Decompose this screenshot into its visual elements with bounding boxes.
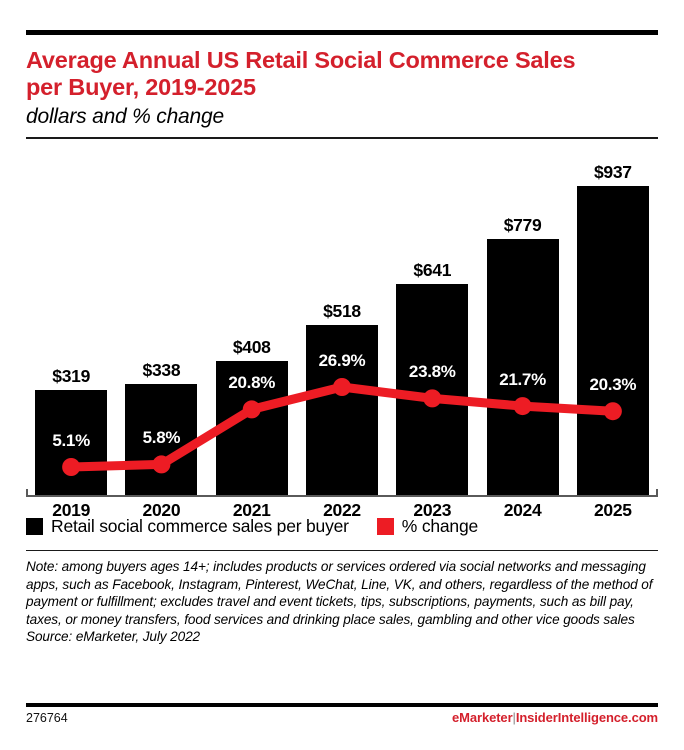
chart-source: Source: eMarketer, July 2022 xyxy=(26,628,658,646)
line-marker-2021 xyxy=(243,400,261,418)
x-axis-label-2024: 2024 xyxy=(477,500,567,521)
percent-label-2024: 21.7% xyxy=(477,370,567,390)
header-bottom-rule xyxy=(26,137,658,139)
line-marker-2019 xyxy=(62,458,80,476)
footer-brand-name: eMarketer xyxy=(452,710,513,725)
chart-note: Note: among buyers ages 14+; includes pr… xyxy=(26,558,658,628)
x-axis-label-2019: 2019 xyxy=(26,500,116,521)
chart-area: $319$338$408$518$641$779$9375.1%5.8%20.8… xyxy=(26,143,658,503)
page-title: Average Annual US Retail Social Commerce… xyxy=(26,47,658,101)
plot-region: $319$338$408$518$641$779$9375.1%5.8%20.8… xyxy=(26,143,658,496)
percent-label-2022: 26.9% xyxy=(297,351,387,371)
line-marker-2023 xyxy=(423,389,441,407)
header-top-rule xyxy=(26,30,658,35)
line-marker-2022 xyxy=(333,378,351,396)
x-axis-label-2023: 2023 xyxy=(387,500,477,521)
percent-change-polyline xyxy=(71,387,613,467)
x-axis-label-2020: 2020 xyxy=(116,500,206,521)
footer-chart-id: 276764 xyxy=(26,711,68,725)
percent-label-2023: 23.8% xyxy=(387,362,477,382)
line-marker-2020 xyxy=(152,455,170,473)
x-axis-label-2021: 2021 xyxy=(207,500,297,521)
percent-label-2025: 20.3% xyxy=(568,375,658,395)
percent-label-2021: 20.8% xyxy=(207,373,297,393)
line-marker-2025 xyxy=(604,402,622,420)
page-subtitle: dollars and % change xyxy=(26,104,658,130)
x-axis-labels: 2019202020212022202320242025 xyxy=(26,500,658,526)
footer-rule xyxy=(26,703,658,707)
page-footer: 276764 eMarketer|InsiderIntelligence.com xyxy=(26,710,658,725)
note-top-rule xyxy=(26,550,658,551)
footer-branding: eMarketer|InsiderIntelligence.com xyxy=(452,710,658,725)
chart-page: Average Annual US Retail Social Commerce… xyxy=(0,30,684,750)
footer-site: InsiderIntelligence.com xyxy=(516,710,658,725)
line-marker-2024 xyxy=(514,397,532,415)
percent-label-2019: 5.1% xyxy=(26,431,116,451)
percent-label-2020: 5.8% xyxy=(116,428,206,448)
x-axis-label-2022: 2022 xyxy=(297,500,387,521)
x-axis-label-2025: 2025 xyxy=(568,500,658,521)
